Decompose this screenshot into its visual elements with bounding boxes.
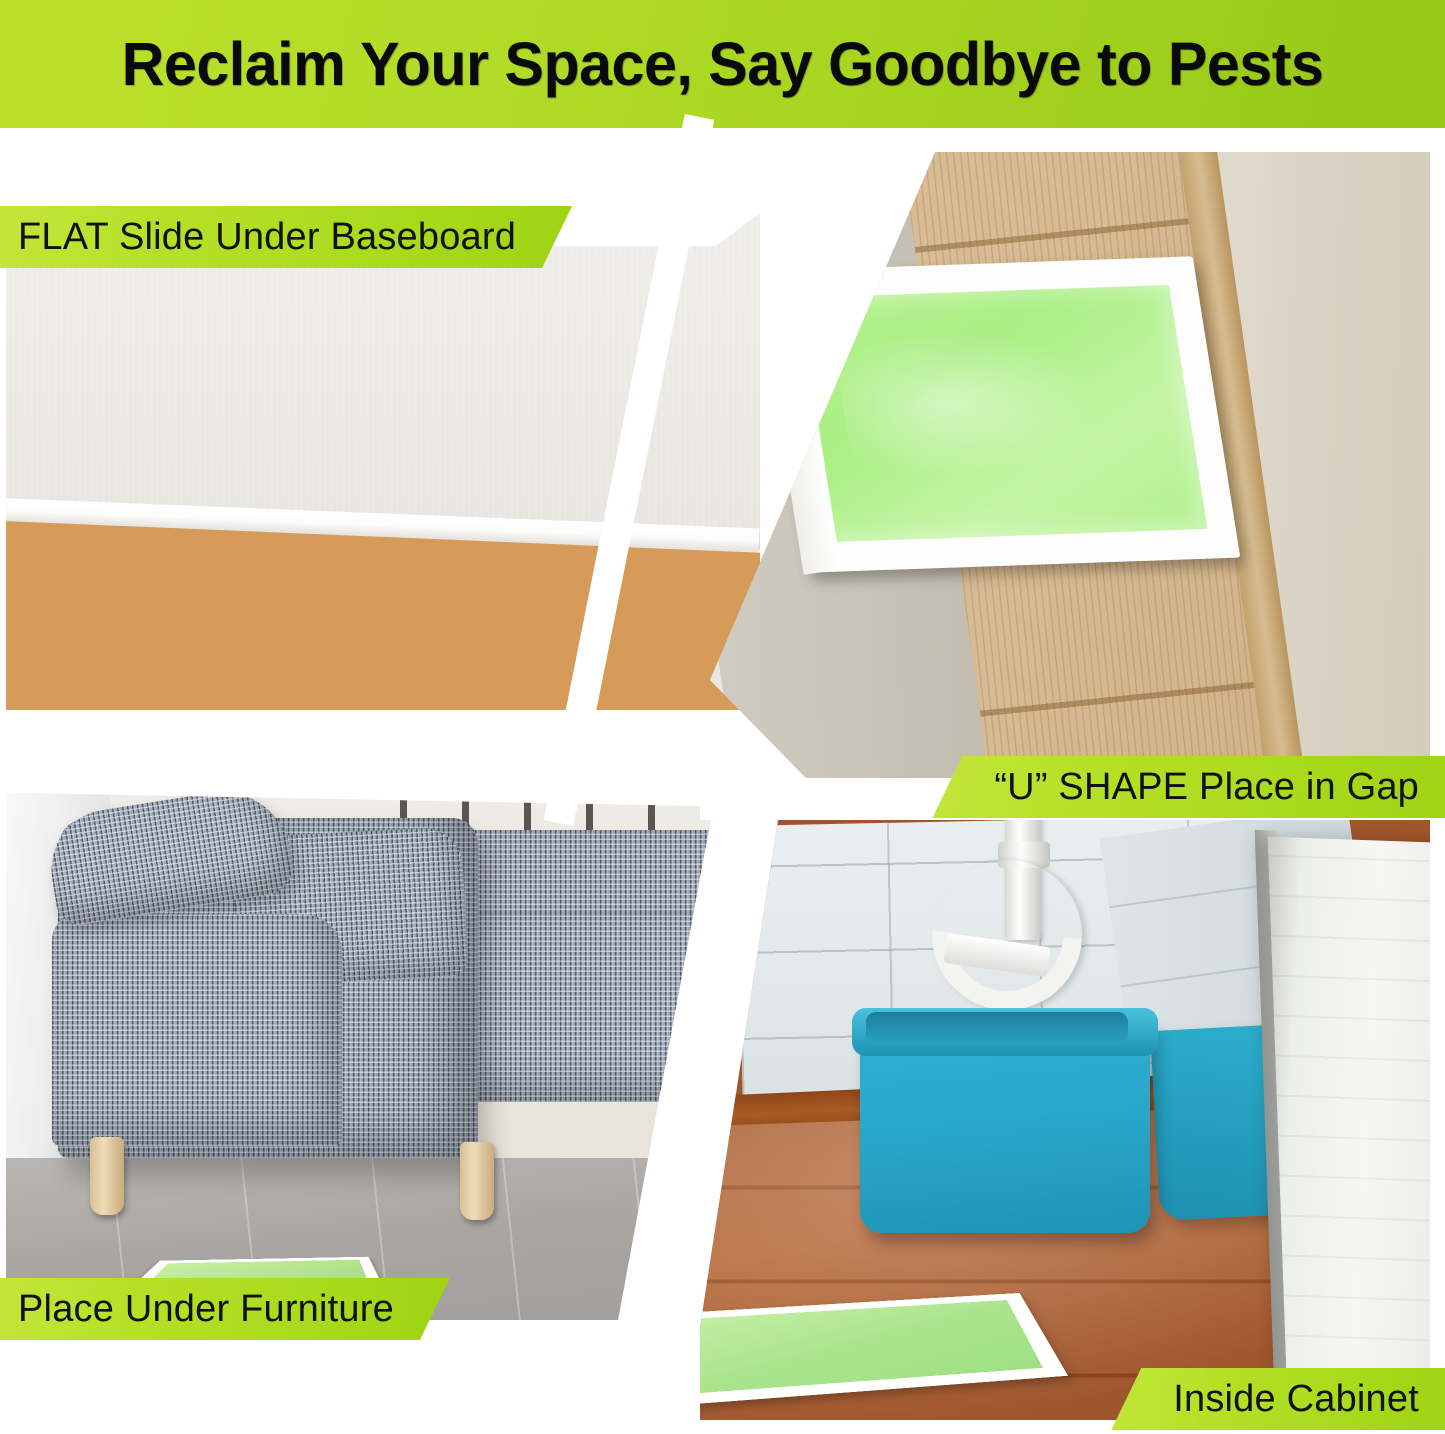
label-text-inside-cabinet: Inside Cabinet xyxy=(1173,1378,1419,1421)
divider-left-edge xyxy=(0,128,6,1434)
product-infographic-poster: Reclaim Your Space, Say Goodbye to Pests xyxy=(0,0,1445,1434)
oak-floor-surface xyxy=(0,520,760,770)
glue-trap-adhesive-surface xyxy=(770,285,1207,543)
label-ribbon-inside-cabinet: Inside Cabinet xyxy=(1111,1368,1445,1430)
photo-panel-u-shape-gap xyxy=(700,150,1445,782)
label-ribbon-u-shape-gap: “U” SHAPE Place in Gap xyxy=(932,756,1445,818)
label-text-u-shape-gap: “U” SHAPE Place in Gap xyxy=(994,766,1419,809)
page-title: Reclaim Your Space, Say Goodbye to Pests xyxy=(22,0,1424,128)
sofa-wooden-leg xyxy=(90,1137,124,1215)
sofa-armrest xyxy=(52,914,342,1146)
label-ribbon-flat-baseboard: FLAT Slide Under Baseboard xyxy=(0,206,572,268)
label-text-flat-baseboard: FLAT Slide Under Baseboard xyxy=(18,216,516,259)
label-text-under-furniture: Place Under Furniture xyxy=(18,1288,394,1331)
cabinet-door-panel xyxy=(1268,837,1445,1424)
header-banner: Reclaim Your Space, Say Goodbye to Pests xyxy=(0,0,1445,128)
basin-interior xyxy=(866,1012,1128,1044)
sofa-wooden-leg xyxy=(460,1142,494,1220)
teal-basin-primary xyxy=(860,1018,1150,1233)
label-ribbon-under-furniture: Place Under Furniture xyxy=(0,1278,450,1340)
glue-trap-u-shape xyxy=(760,256,1241,572)
basin-rim xyxy=(852,1008,1158,1056)
divider-header-gap xyxy=(0,128,1445,152)
sofa xyxy=(20,792,740,1192)
photo-panel-inside-cabinet xyxy=(700,820,1445,1434)
